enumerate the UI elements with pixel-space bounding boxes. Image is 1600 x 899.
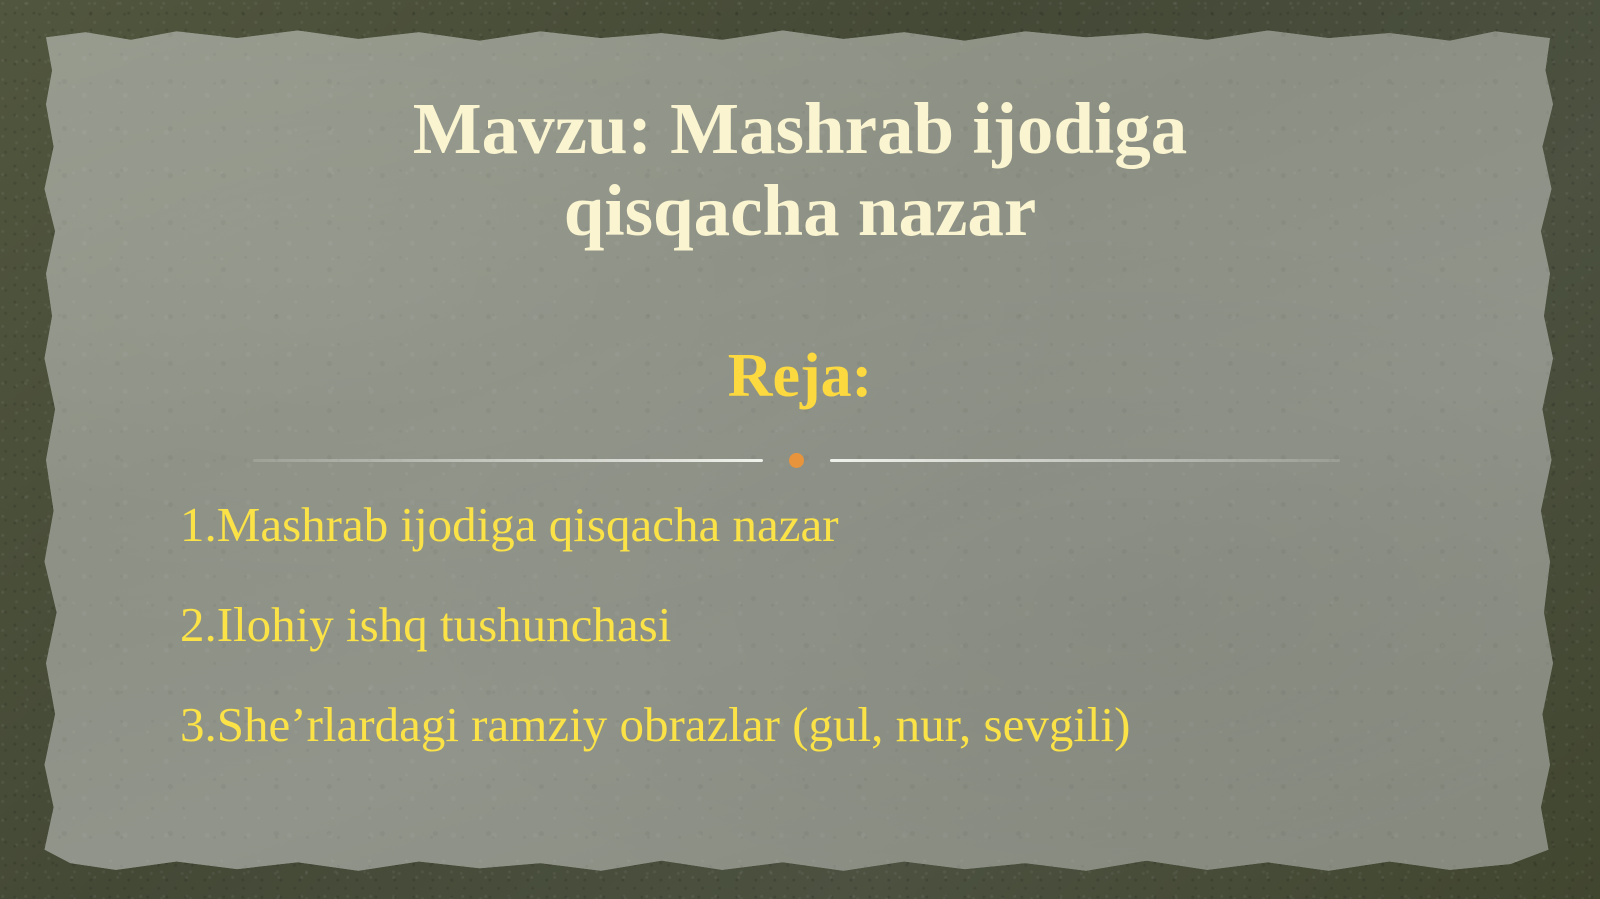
divider-line-left	[253, 459, 763, 462]
list-item: 2.Ilohiy ishq tushunchasi	[180, 600, 1510, 649]
divider	[253, 449, 1340, 471]
slide-content: Mavzu: Mashrab ijodiga qisqacha nazar Re…	[0, 0, 1600, 899]
agenda-list: 1.Mashrab ijodiga qisqacha nazar 2.Ilohi…	[180, 500, 1510, 800]
page-title: Mavzu: Mashrab ijodiga qisqacha nazar	[180, 88, 1420, 252]
list-item: 3.She’rlardagi ramziy obrazlar (gul, nur…	[180, 700, 1510, 749]
list-item: 1.Mashrab ijodiga qisqacha nazar	[180, 500, 1510, 549]
divider-line-right	[830, 459, 1340, 462]
slide-canvas: Mavzu: Mashrab ijodiga qisqacha nazar Re…	[0, 0, 1600, 899]
title-line-2: qisqacha nazar	[180, 170, 1420, 252]
subtitle-reja: Reja:	[180, 345, 1420, 407]
title-line-1: Mavzu: Mashrab ijodiga	[180, 88, 1420, 170]
divider-dot-icon	[789, 453, 804, 468]
